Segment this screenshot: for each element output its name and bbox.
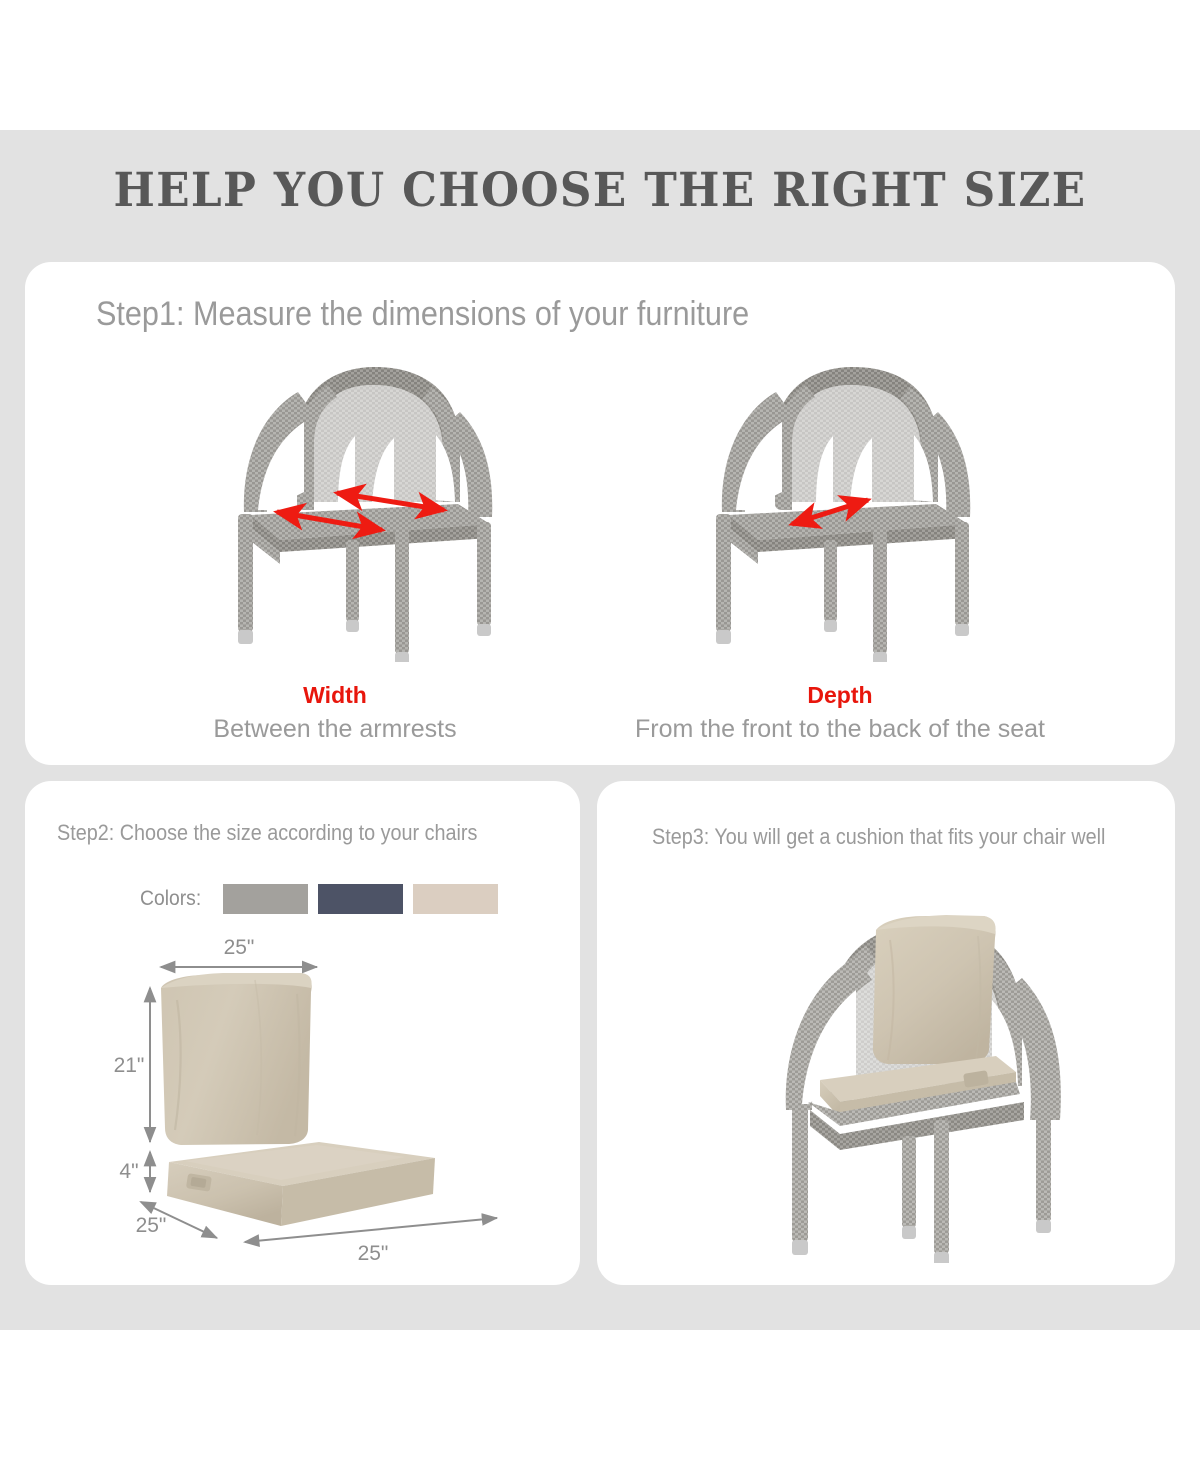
depth-chair-illustration: [700, 352, 985, 662]
step2-heading: Step2: Choose the size according to your…: [57, 820, 477, 846]
page-title: HELP YOU CHOOSE THE RIGHT SIZE: [42, 163, 1158, 218]
depth-caption-subtitle: From the front to the back of the seat: [560, 715, 1120, 744]
depth-caption-title: Depth: [690, 682, 990, 709]
width-caption-subtitle: Between the armrests: [120, 715, 550, 744]
colors-row: Colors:: [140, 884, 498, 914]
width-chair-illustration: [222, 352, 507, 662]
width-caption-title: Width: [185, 682, 485, 709]
cushion-dimension-diagram: 25" 21" 4" 25" 25": [105, 930, 525, 1265]
dim-seat-depth: 25": [136, 1214, 167, 1237]
cushioned-chair-illustration: [768, 888, 1073, 1263]
color-swatch-gray[interactable]: [223, 884, 308, 914]
dim-back-height: 21": [114, 1054, 145, 1077]
color-swatch-navy[interactable]: [318, 884, 403, 914]
color-swatch-beige[interactable]: [413, 884, 498, 914]
dim-seat-width: 25": [358, 1242, 389, 1265]
step3-heading: Step3: You will get a cushion that fits …: [652, 820, 1156, 854]
dim-back-width: 25": [224, 936, 255, 959]
dim-seat-thickness: 4": [119, 1160, 138, 1183]
step1-heading: Step1: Measure the dimensions of your fu…: [96, 295, 749, 334]
colors-label: Colors:: [140, 887, 201, 911]
